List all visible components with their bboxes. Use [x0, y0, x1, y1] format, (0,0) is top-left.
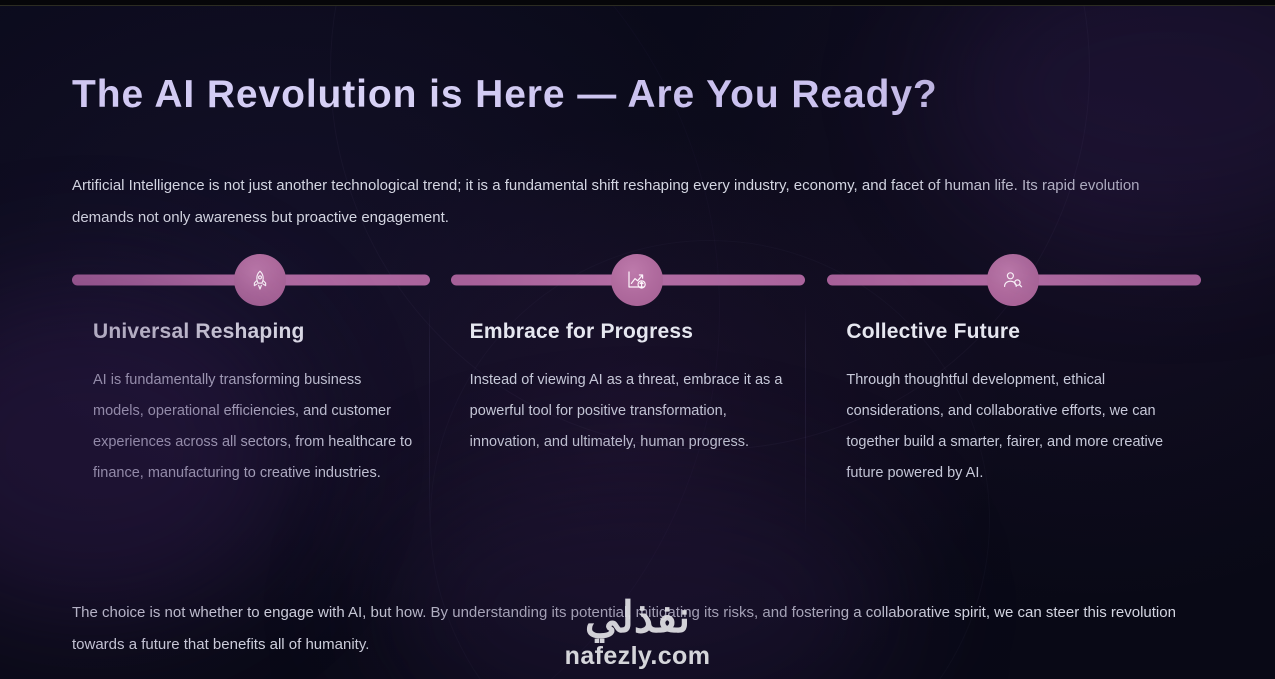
- feature-columns: Universal Reshaping AI is fundamentally …: [72, 252, 1202, 489]
- feature-column-embrace-for-progress: Embrace for Progress Instead of viewing …: [449, 252, 826, 489]
- feature-title: Collective Future: [825, 320, 1202, 344]
- timeline-connector: [449, 252, 826, 308]
- feature-title: Embrace for Progress: [449, 320, 826, 344]
- timeline-node-2[interactable]: [611, 254, 663, 306]
- page-root: The AI Revolution is Here — Are You Read…: [0, 0, 1275, 679]
- intro-paragraph: Artificial Intelligence is not just anot…: [72, 170, 1192, 234]
- feature-body: AI is fundamentally transforming busines…: [72, 365, 449, 489]
- chart-up-arrow-icon: [625, 268, 649, 292]
- outro-paragraph: The choice is not whether to engage with…: [72, 597, 1192, 661]
- top-browser-band: [0, 0, 1275, 6]
- timeline-node-1[interactable]: [234, 254, 286, 306]
- rocket-icon: [248, 268, 272, 292]
- feature-column-collective-future: Collective Future Through thoughtful dev…: [825, 252, 1202, 489]
- timeline-connector: [825, 252, 1202, 308]
- timeline-node-3[interactable]: [987, 254, 1039, 306]
- feature-title: Universal Reshaping: [72, 320, 449, 344]
- feature-body: Instead of viewing AI as a threat, embra…: [449, 365, 826, 458]
- feature-column-universal-reshaping: Universal Reshaping AI is fundamentally …: [72, 252, 449, 489]
- feature-body: Through thoughtful development, ethical …: [825, 365, 1202, 489]
- timeline-connector: [72, 252, 449, 308]
- users-icon: [1001, 268, 1025, 292]
- page-title: The AI Revolution is Here — Are You Read…: [72, 72, 938, 119]
